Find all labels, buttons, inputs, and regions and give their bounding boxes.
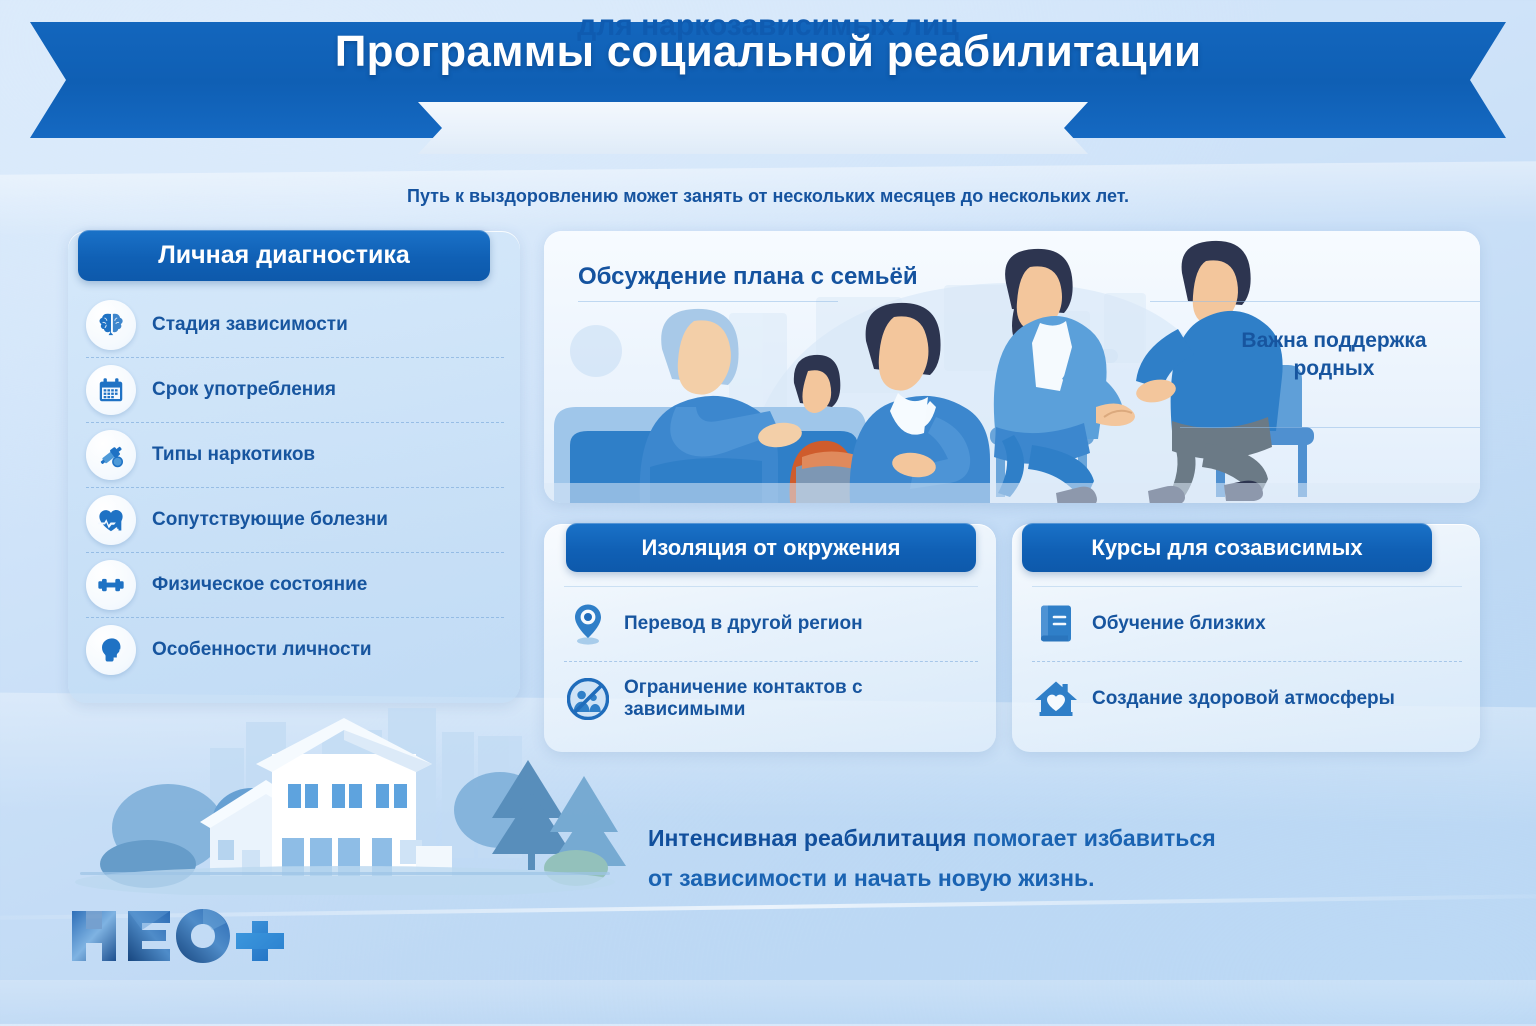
bg-streak-bottom [0, 980, 1536, 1026]
list-item-label: Срок употребления [152, 379, 336, 401]
codependents-heading: Курсы для созависимых [1022, 523, 1432, 572]
list-item-label: Сопутствующие болезни [152, 509, 388, 531]
illustration-side-note: Важна поддержка родных [1216, 327, 1452, 384]
list-item-label: Ограничение контактов с зависимыми [624, 677, 978, 721]
list-item[interactable]: Сопутствующие болезни [86, 488, 504, 553]
diagnostics-heading: Личная диагностика [78, 230, 490, 281]
list-item[interactable]: Перевод в другой регион [564, 586, 978, 662]
home-heart-icon [1032, 678, 1080, 720]
list-item[interactable]: Создание здоровой атмосферы [1032, 662, 1462, 736]
isolation-heading: Изоляция от окружения [566, 523, 976, 572]
list-item-label: Типы наркотиков [152, 444, 315, 466]
list-item-label: Обучение близких [1092, 613, 1266, 635]
page-subtitle: для наркозависимых лиц [0, 9, 1536, 43]
list-item[interactable]: Особенности личности [86, 618, 504, 682]
calendar-icon [86, 365, 136, 415]
neighbourhood-illustration [60, 700, 630, 895]
brain-icon [86, 300, 136, 350]
dumbbell-icon [86, 560, 136, 610]
closing-statement-bold: Интенсивная реабилитация [648, 825, 966, 851]
list-item[interactable]: Типы наркотиков [86, 423, 504, 488]
family-illustration-card: Обсуждение плана с семьёй Важна поддержк… [544, 231, 1480, 503]
list-item[interactable]: Срок употребления [86, 358, 504, 423]
list-item[interactable]: Стадия зависимости [86, 293, 504, 358]
codependents-card: Курсы для созависимых Обучение близких [1012, 524, 1480, 752]
heart-pulse-icon [86, 495, 136, 545]
codependents-list: Обучение близких Создание здоровой атмос… [1032, 586, 1462, 736]
infographic-root: Программы социальной реабилитации для на… [0, 0, 1536, 1024]
intro-text: Путь к выздоровлению может занять от нес… [0, 186, 1536, 207]
book-icon [1032, 603, 1080, 645]
list-item-label: Особенности личности [152, 639, 372, 661]
list-item-label: Стадия зависимости [152, 314, 348, 336]
list-item-label: Физическое состояние [152, 574, 367, 596]
closing-statement-line2: от зависимости и начать новую жизнь. [648, 865, 1095, 891]
head-profile-icon [86, 625, 136, 675]
list-item-label: Создание здоровой атмосферы [1092, 688, 1395, 710]
subtitle-ribbon [418, 102, 1088, 154]
neo-plus-logo[interactable] [66, 905, 296, 967]
list-item[interactable]: Физическое состояние [86, 553, 504, 618]
closing-statement-rest: помогает избавиться [966, 825, 1215, 851]
syringe-icon [86, 430, 136, 480]
illustration-title: Обсуждение плана с семьёй [578, 263, 918, 291]
list-item-label: Перевод в другой регион [624, 613, 863, 635]
list-item[interactable]: Обучение близких [1032, 586, 1462, 662]
diagnostics-panel: Личная диагностика Стадия зависимости [68, 231, 520, 703]
location-pin-icon [564, 603, 612, 645]
closing-statement: Интенсивная реабилитация помогает избави… [648, 818, 1408, 899]
diagnostics-list: Стадия зависимости [86, 293, 504, 682]
